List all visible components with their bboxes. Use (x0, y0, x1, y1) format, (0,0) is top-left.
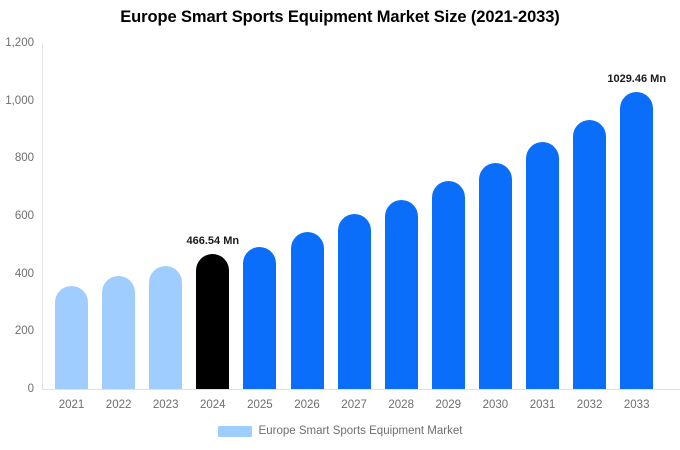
y-axis-tick-label: 0 (0, 383, 34, 395)
bar-2031[interactable] (526, 142, 559, 389)
y-axis-tick-label: 800 (0, 152, 34, 164)
x-axis-tick-label: 2030 (471, 399, 520, 411)
bar-2029[interactable] (432, 181, 465, 389)
legend-label: Europe Smart Sports Equipment Market (259, 425, 463, 437)
bar-2030[interactable] (479, 163, 512, 389)
x-axis-tick-label: 2025 (235, 399, 284, 411)
x-axis-tick-label: 2023 (141, 399, 190, 411)
x-axis-tick-label: 2032 (565, 399, 614, 411)
x-axis-tick-label: 2027 (330, 399, 379, 411)
y-axis-tick-label: 400 (0, 268, 34, 280)
chart-title: Europe Smart Sports Equipment Market Siz… (0, 8, 680, 27)
bar-2033[interactable] (620, 92, 653, 389)
x-axis-tick-label: 2029 (424, 399, 473, 411)
x-axis-tick-label: 2024 (188, 399, 237, 411)
bar-2024[interactable] (196, 254, 229, 389)
bar-2028[interactable] (385, 200, 418, 389)
y-axis-tick-label: 1,200 (0, 37, 34, 49)
bar-value-label-2024: 466.54 Mn (187, 235, 240, 247)
bar-2021[interactable] (55, 286, 88, 390)
x-axis-tick-label: 2028 (377, 399, 426, 411)
y-axis-tick-label: 1,000 (0, 95, 34, 107)
plot-area (42, 43, 680, 389)
x-axis-tick-label: 2031 (518, 399, 567, 411)
y-axis-tick-label: 600 (0, 210, 34, 222)
bar-2027[interactable] (338, 214, 371, 389)
x-axis-tick-label: 2033 (612, 399, 661, 411)
x-axis-tick-label: 2022 (94, 399, 143, 411)
bar-chart: Europe Smart Sports Equipment Market Siz… (0, 0, 680, 450)
x-axis-tick-label: 2021 (47, 399, 96, 411)
bar-value-label-2033: 1029.46 Mn (607, 73, 666, 85)
bar-2032[interactable] (573, 120, 606, 389)
legend-swatch-icon (218, 426, 252, 437)
bar-2022[interactable] (102, 276, 135, 389)
x-axis-tick-label: 2026 (283, 399, 332, 411)
chart-legend: Europe Smart Sports Equipment Market (0, 425, 680, 437)
x-axis-line (42, 389, 680, 390)
y-axis-tick-label: 200 (0, 325, 34, 337)
bar-2025[interactable] (243, 247, 276, 389)
bar-2026[interactable] (291, 232, 324, 389)
bar-2023[interactable] (149, 266, 182, 389)
